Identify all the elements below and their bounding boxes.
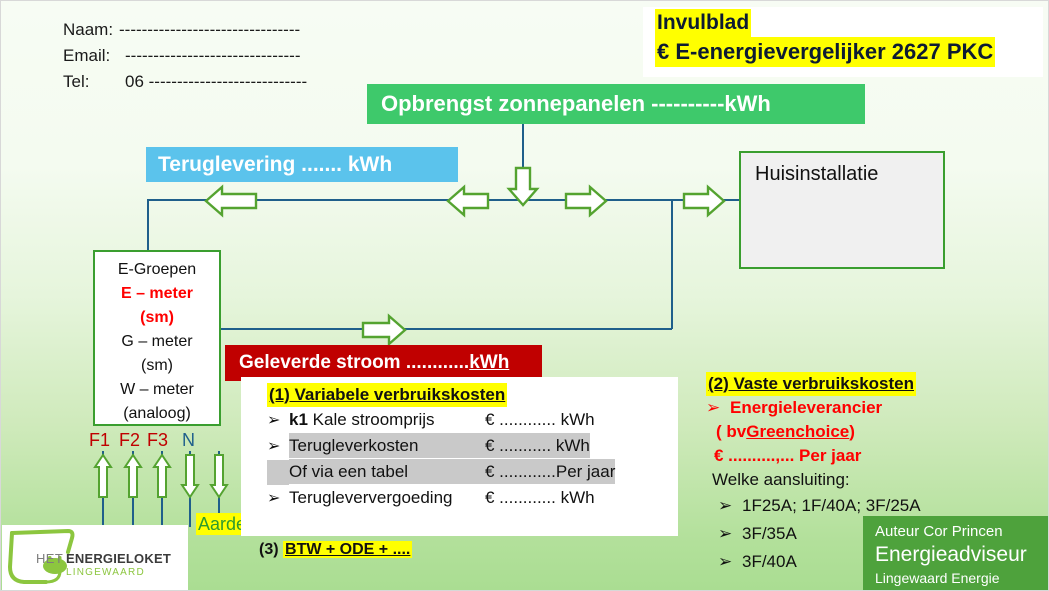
- logo-het-text: HET: [36, 551, 63, 566]
- vaste-row-euro: € ..........,... Per jaar: [706, 444, 1049, 468]
- logo-lingewaard-text: LINGEWAARD: [66, 567, 145, 578]
- bullet-icon: ➢: [267, 408, 289, 433]
- bullet-icon: ➢: [267, 486, 289, 511]
- variabele-row-text: Terugleverkosten: [289, 433, 485, 458]
- naam-value: --------------------------------: [119, 17, 300, 43]
- invulblad-title: Invulblad: [655, 9, 751, 37]
- meter-line-emeter: E – meter: [95, 282, 219, 306]
- wire-lower-horizontal: [220, 328, 672, 330]
- vaste-bv-name: Greenchoice: [746, 420, 849, 444]
- invulblad-title-row: Invulblad: [655, 9, 1043, 37]
- aansluiting-option: 3F/40A: [742, 548, 797, 576]
- teruglevering-banner: Teruglevering ....... kWh: [146, 147, 458, 182]
- tel-label: Tel:: [63, 69, 125, 95]
- btw-ode-line: (3) BTW + ODE + ....: [259, 541, 412, 559]
- vaste-row-welke: Welke aansluiting:: [706, 468, 1049, 492]
- bullet-icon: ➢: [267, 434, 289, 459]
- arrow-right-bus-mid: [564, 185, 606, 217]
- tel-value: 06 ----------------------------: [125, 69, 307, 95]
- label-f1: F1: [89, 430, 110, 451]
- vaste-header-row: (2) Vaste verbruikskosten: [706, 372, 1049, 396]
- naam-label: Naam:: [63, 17, 119, 43]
- variabele-row: ➢ Terugleverkosten € ........... kWh: [267, 433, 678, 459]
- variabele-row: Of via een tabel € ............Per jaar: [267, 459, 678, 485]
- huisinstallatie-box: Huisinstallatie: [739, 151, 945, 269]
- variabele-row-euro: € ............ kWh: [485, 407, 595, 432]
- geleverde-stroom-prefix: Geleverde stroom ............: [239, 352, 469, 374]
- variabele-row-text: Of via een tabel: [289, 459, 485, 484]
- arrow-down-n: [181, 454, 199, 498]
- author-role: Energieadviseur: [875, 542, 1049, 568]
- variabele-row-prefix: k1: [289, 410, 308, 429]
- meter-line-gmeter-sm: (sm): [95, 354, 219, 378]
- meter-box: E-Groepen E – meter (sm) G – meter (sm) …: [93, 250, 221, 426]
- opbrengst-zonnepanelen-banner: Opbrengst zonnepanelen ----------kWh: [367, 84, 865, 124]
- btw-text: BTW + ODE + ....: [283, 541, 412, 558]
- label-n: N: [182, 430, 195, 451]
- geleverde-stroom-unit: kWh: [469, 352, 509, 374]
- opbrengst-label: Opbrengst zonnepanelen ----------kWh: [381, 91, 771, 117]
- wire-right-vertical: [671, 199, 673, 329]
- aansluiting-option: 3F/35A: [742, 520, 797, 548]
- label-f2: F2: [119, 430, 140, 451]
- contact-block: Naam: -------------------------------- E…: [63, 17, 307, 95]
- arrow-down-aarde: [210, 454, 228, 498]
- slide-canvas: Naam: -------------------------------- E…: [0, 0, 1049, 591]
- variabele-header: (1) Variabele verbruikskosten: [267, 383, 507, 407]
- variabele-row-text: Kale stroomprijs: [308, 410, 435, 429]
- bullet-icon: ➢: [718, 520, 742, 548]
- arrow-left-meter-feed: [448, 185, 490, 217]
- invulblad-subtitle-row: € E-energievergelijker 2627 PKC: [655, 37, 1043, 67]
- meter-line-gmeter: G – meter: [95, 330, 219, 354]
- variabele-header-row: (1) Variabele verbruikskosten: [267, 383, 678, 407]
- contact-row-tel: Tel: 06 ----------------------------: [63, 69, 307, 95]
- arrow-up-f2: [124, 454, 142, 498]
- invulblad-card: Invulblad € E-energievergelijker 2627 PK…: [643, 7, 1043, 77]
- variabele-row-euro: € ............ kWh: [485, 485, 595, 510]
- contact-row-naam: Naam: --------------------------------: [63, 17, 307, 43]
- bullet-spacer: [267, 460, 289, 485]
- vaste-leverancier-label: Energieleverancier: [730, 396, 882, 420]
- label-f3: F3: [147, 430, 168, 451]
- email-label: Email:: [63, 43, 125, 69]
- contact-row-email: Email: -------------------------------: [63, 43, 307, 69]
- arrow-right-huisinstallatie: [682, 185, 724, 217]
- author-name: Auteur Cor Princen: [875, 522, 1049, 542]
- variabele-row-text: Terugleververgoeding: [289, 485, 485, 510]
- vaste-bv-prefix: ( bv: [716, 420, 746, 444]
- variabele-row-euro: € ........... kWh: [485, 433, 590, 458]
- logo-energieloket-text: ENERGIELOKET: [66, 551, 171, 566]
- meter-line-emeter-sm: (sm): [95, 306, 219, 330]
- arrow-up-f1: [94, 454, 112, 498]
- bullet-icon: ➢: [718, 492, 742, 520]
- meter-line-egroepen: E-Groepen: [95, 258, 219, 282]
- welke-aansluiting-label: Welke aansluiting:: [712, 470, 850, 489]
- invulblad-subtitle: € E-energievergelijker 2627 PKC: [655, 37, 995, 67]
- arrow-down-solar: [508, 168, 538, 206]
- vaste-euro-label: € ..........,... Per jaar: [714, 444, 861, 468]
- huisinstallatie-label: Huisinstallatie: [755, 163, 878, 185]
- variabele-row-label: k1 Kale stroomprijs: [289, 407, 485, 432]
- variabele-row-euro: € ............Per jaar: [485, 459, 615, 484]
- geleverde-stroom-banner: Geleverde stroom ............kWh: [225, 345, 542, 381]
- author-org: Lingewaard Energie: [875, 568, 1049, 588]
- meter-line-wmeter-analoog: (analoog): [95, 402, 219, 426]
- bullet-icon: ➢: [706, 396, 730, 420]
- email-value: -------------------------------: [125, 43, 301, 69]
- arrow-right-geleverde: [361, 314, 405, 346]
- vaste-header: (2) Vaste verbruikskosten: [706, 372, 916, 396]
- teruglevering-label: Teruglevering ....... kWh: [158, 153, 392, 177]
- arrow-left-teruglevering: [206, 185, 258, 217]
- variabele-row: ➢ k1 Kale stroomprijs € ............ kWh: [267, 407, 678, 433]
- bullet-icon: ➢: [718, 548, 742, 576]
- vaste-row-bv: ( bv Greenchoice): [706, 420, 1049, 444]
- energieloket-logo: HET ENERGIELOKET LINGEWAARD: [2, 525, 188, 591]
- wire-left-vertical: [147, 199, 149, 252]
- arrow-up-f3: [153, 454, 171, 498]
- vaste-bv-suffix: ): [849, 420, 855, 444]
- btw-number: (3): [259, 541, 279, 558]
- variabele-verbruikskosten-card: (1) Variabele verbruikskosten ➢ k1 Kale …: [241, 377, 678, 536]
- variabele-row: ➢ Terugleververgoeding € ............ kW…: [267, 485, 678, 511]
- meter-line-wmeter: W – meter: [95, 378, 219, 402]
- author-box: Auteur Cor Princen Energieadviseur Linge…: [863, 516, 1049, 591]
- vaste-row-leverancier: ➢ Energieleverancier: [706, 396, 1049, 420]
